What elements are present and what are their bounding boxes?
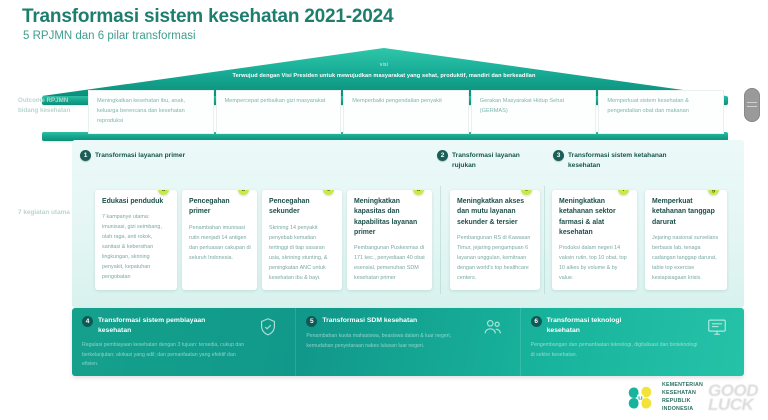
ministry-line-4: INDONESIA <box>662 406 703 414</box>
ministry-name: KEMENTERIAN KESEHATAN REPUBLIK INDONESIA <box>662 382 703 414</box>
kegiatan-utama-label: 7 kegiatan utama <box>18 208 78 218</box>
enabler-head: 4 Transformasi sistem pembiayaan kesehat… <box>82 316 285 336</box>
outcome-cell: Mempercepat perbaikan gizi masyarakat <box>216 90 342 134</box>
activity-card[interactable]: e Meningkatkan akses dan mutu layanan se… <box>450 190 540 290</box>
card-title: Meningkatkan kapasitas dan kapabilitas l… <box>354 197 426 238</box>
enabler-item-5[interactable]: 5 Transformasi SDM kesehatan Penambahan … <box>296 308 520 376</box>
group-divider <box>440 186 441 294</box>
resize-drag-handle[interactable] <box>744 88 760 122</box>
activity-card[interactable]: c Pencegahan sekunder Skrining 14 penyak… <box>262 190 342 290</box>
pillar-heading-1: 1 Transformasi layanan primer <box>80 150 240 161</box>
outcome-cell: Memperkuat sistem kesehatan & pengendali… <box>598 90 724 134</box>
card-body: Jejaring nasional surveilans berbasis la… <box>652 233 721 283</box>
grip-line-icon <box>747 102 757 103</box>
activity-card[interactable]: d Meningkatkan kapasitas dan kapabilitas… <box>347 190 432 290</box>
card-letter-badge: e <box>521 190 532 195</box>
card-title: Meningkatkan ketahanan sektor farmasi & … <box>559 197 631 238</box>
ministry-line-1: KEMENTERIAN <box>662 382 703 390</box>
ministry-line-3: REPUBLIK <box>662 398 703 406</box>
grip-line-icon <box>747 106 757 107</box>
watermark-line-2: LUCK <box>708 398 758 412</box>
activity-card[interactable]: g Memperkuat ketahanan tanggap darurat J… <box>645 190 727 290</box>
card-letter-badge: g <box>708 190 719 195</box>
card-letter-badge: f <box>618 190 629 195</box>
monitor-icon <box>706 316 728 338</box>
enabler-body: Pengembangan dan pemanfaatan teknologi, … <box>531 341 701 361</box>
goodluck-watermark: GOOD LUCK <box>708 384 758 413</box>
enabler-title: Transformasi teknologi kesehatan <box>547 316 655 336</box>
card-letter-badge: a <box>158 190 169 195</box>
enabler-item-4[interactable]: 4 Transformasi sistem pembiayaan kesehat… <box>72 308 296 376</box>
roof-visi-text: Terwujud dengan Visi Presiden untuk mewu… <box>0 73 768 79</box>
kemenkes-logo-icon <box>623 383 657 413</box>
enabler-number-badge: 5 <box>306 316 317 327</box>
enabler-bar: 4 Transformasi sistem pembiayaan kesehat… <box>72 308 744 376</box>
card-body: Skrining 14 penyakit penyebab kematian t… <box>269 223 336 283</box>
enabler-title: Transformasi SDM kesehatan <box>322 316 417 326</box>
pillar-heading-2: 2 Transformasi layanan rujukan <box>437 150 542 170</box>
activity-card[interactable]: a Edukasi penduduk 7 kampanye utama: imu… <box>95 190 177 290</box>
pillar-number-badge: 2 <box>437 150 448 161</box>
roof-visi-label: visi <box>0 62 768 68</box>
outcome-row-label: Outcome RPJMN bidang kesehatan <box>18 96 80 115</box>
outcome-strip: Meningkatkan kesehatan ibu, anak, keluar… <box>88 90 724 134</box>
enabler-number-badge: 6 <box>531 316 542 327</box>
enabler-head: 6 Transformasi teknologi kesehatan <box>531 316 734 336</box>
shield-check-icon <box>257 316 279 338</box>
card-title: Pencegahan sekunder <box>269 197 336 218</box>
enabler-title: Transformasi sistem pembiayaan kesehatan <box>98 316 206 336</box>
enabler-body: Penambahan kuota mahasiswa, beasiswa dal… <box>306 332 476 352</box>
enabler-head: 5 Transformasi SDM kesehatan <box>306 316 509 327</box>
enabler-number-badge: 4 <box>82 316 93 327</box>
card-letter-badge: c <box>323 190 334 195</box>
enabler-body: Regulasi pembiayaan kesehatan dengan 3 t… <box>82 341 252 371</box>
pillar-title: Transformasi layanan primer <box>95 150 185 161</box>
ministry-line-2: KESEHATAN <box>662 390 703 398</box>
group-divider <box>544 186 545 294</box>
pillar-title: Transformasi sistem ketahanan kesehatan <box>568 150 693 170</box>
page-subtitle: 5 RPJMN dan 6 pilar transformasi <box>23 30 196 42</box>
card-title: Meningkatkan akses dan mutu layanan seku… <box>457 197 534 228</box>
card-body: Pembangunan Puskesmas di 171 kec., penye… <box>354 243 426 283</box>
pillar-heading-3: 3 Transformasi sistem ketahanan kesehata… <box>553 150 693 170</box>
pillar-number-badge: 3 <box>553 150 564 161</box>
card-body: 7 kampanye utama: imunisasi, gizi seimba… <box>102 212 171 282</box>
activity-card[interactable]: b Pencegahan primer Penambahan imunisasi… <box>182 190 257 290</box>
outcome-cell: Memperbaiki pengendalian penyakit <box>343 90 469 134</box>
card-body: Produksi dalam negeri 14 vaksin rutin, t… <box>559 243 631 283</box>
pillar-title: Transformasi layanan rujukan <box>452 150 542 170</box>
outcome-cell: Gerakan Masyarakat Hidup Sehat (GERMAS) <box>471 90 597 134</box>
card-body: Penambahan imunisasi rutin menjadi 14 an… <box>189 223 251 263</box>
activity-card[interactable]: f Meningkatkan ketahanan sektor farmasi … <box>552 190 637 290</box>
page-title: Transformasi sistem kesehatan 2021-2024 <box>22 6 393 28</box>
card-title: Memperkuat ketahanan tanggap darurat <box>652 197 721 228</box>
pillar-number-badge: 1 <box>80 150 91 161</box>
card-title: Edukasi penduduk <box>102 197 171 207</box>
footer-logo: KEMENTERIAN KESEHATAN REPUBLIK INDONESIA… <box>623 382 758 414</box>
card-title: Pencegahan primer <box>189 197 251 218</box>
outcome-cell: Meningkatkan kesehatan ibu, anak, keluar… <box>88 90 214 134</box>
card-letter-badge: b <box>238 190 249 195</box>
card-body: Pembangunan RS di Kawasan Timur, jejarin… <box>457 233 534 283</box>
people-icon <box>482 316 504 338</box>
enabler-item-6[interactable]: 6 Transformasi teknologi kesehatan Penge… <box>521 308 744 376</box>
slide-canvas: Transformasi sistem kesehatan 2021-2024 … <box>0 0 768 420</box>
card-letter-badge: d <box>413 190 424 195</box>
